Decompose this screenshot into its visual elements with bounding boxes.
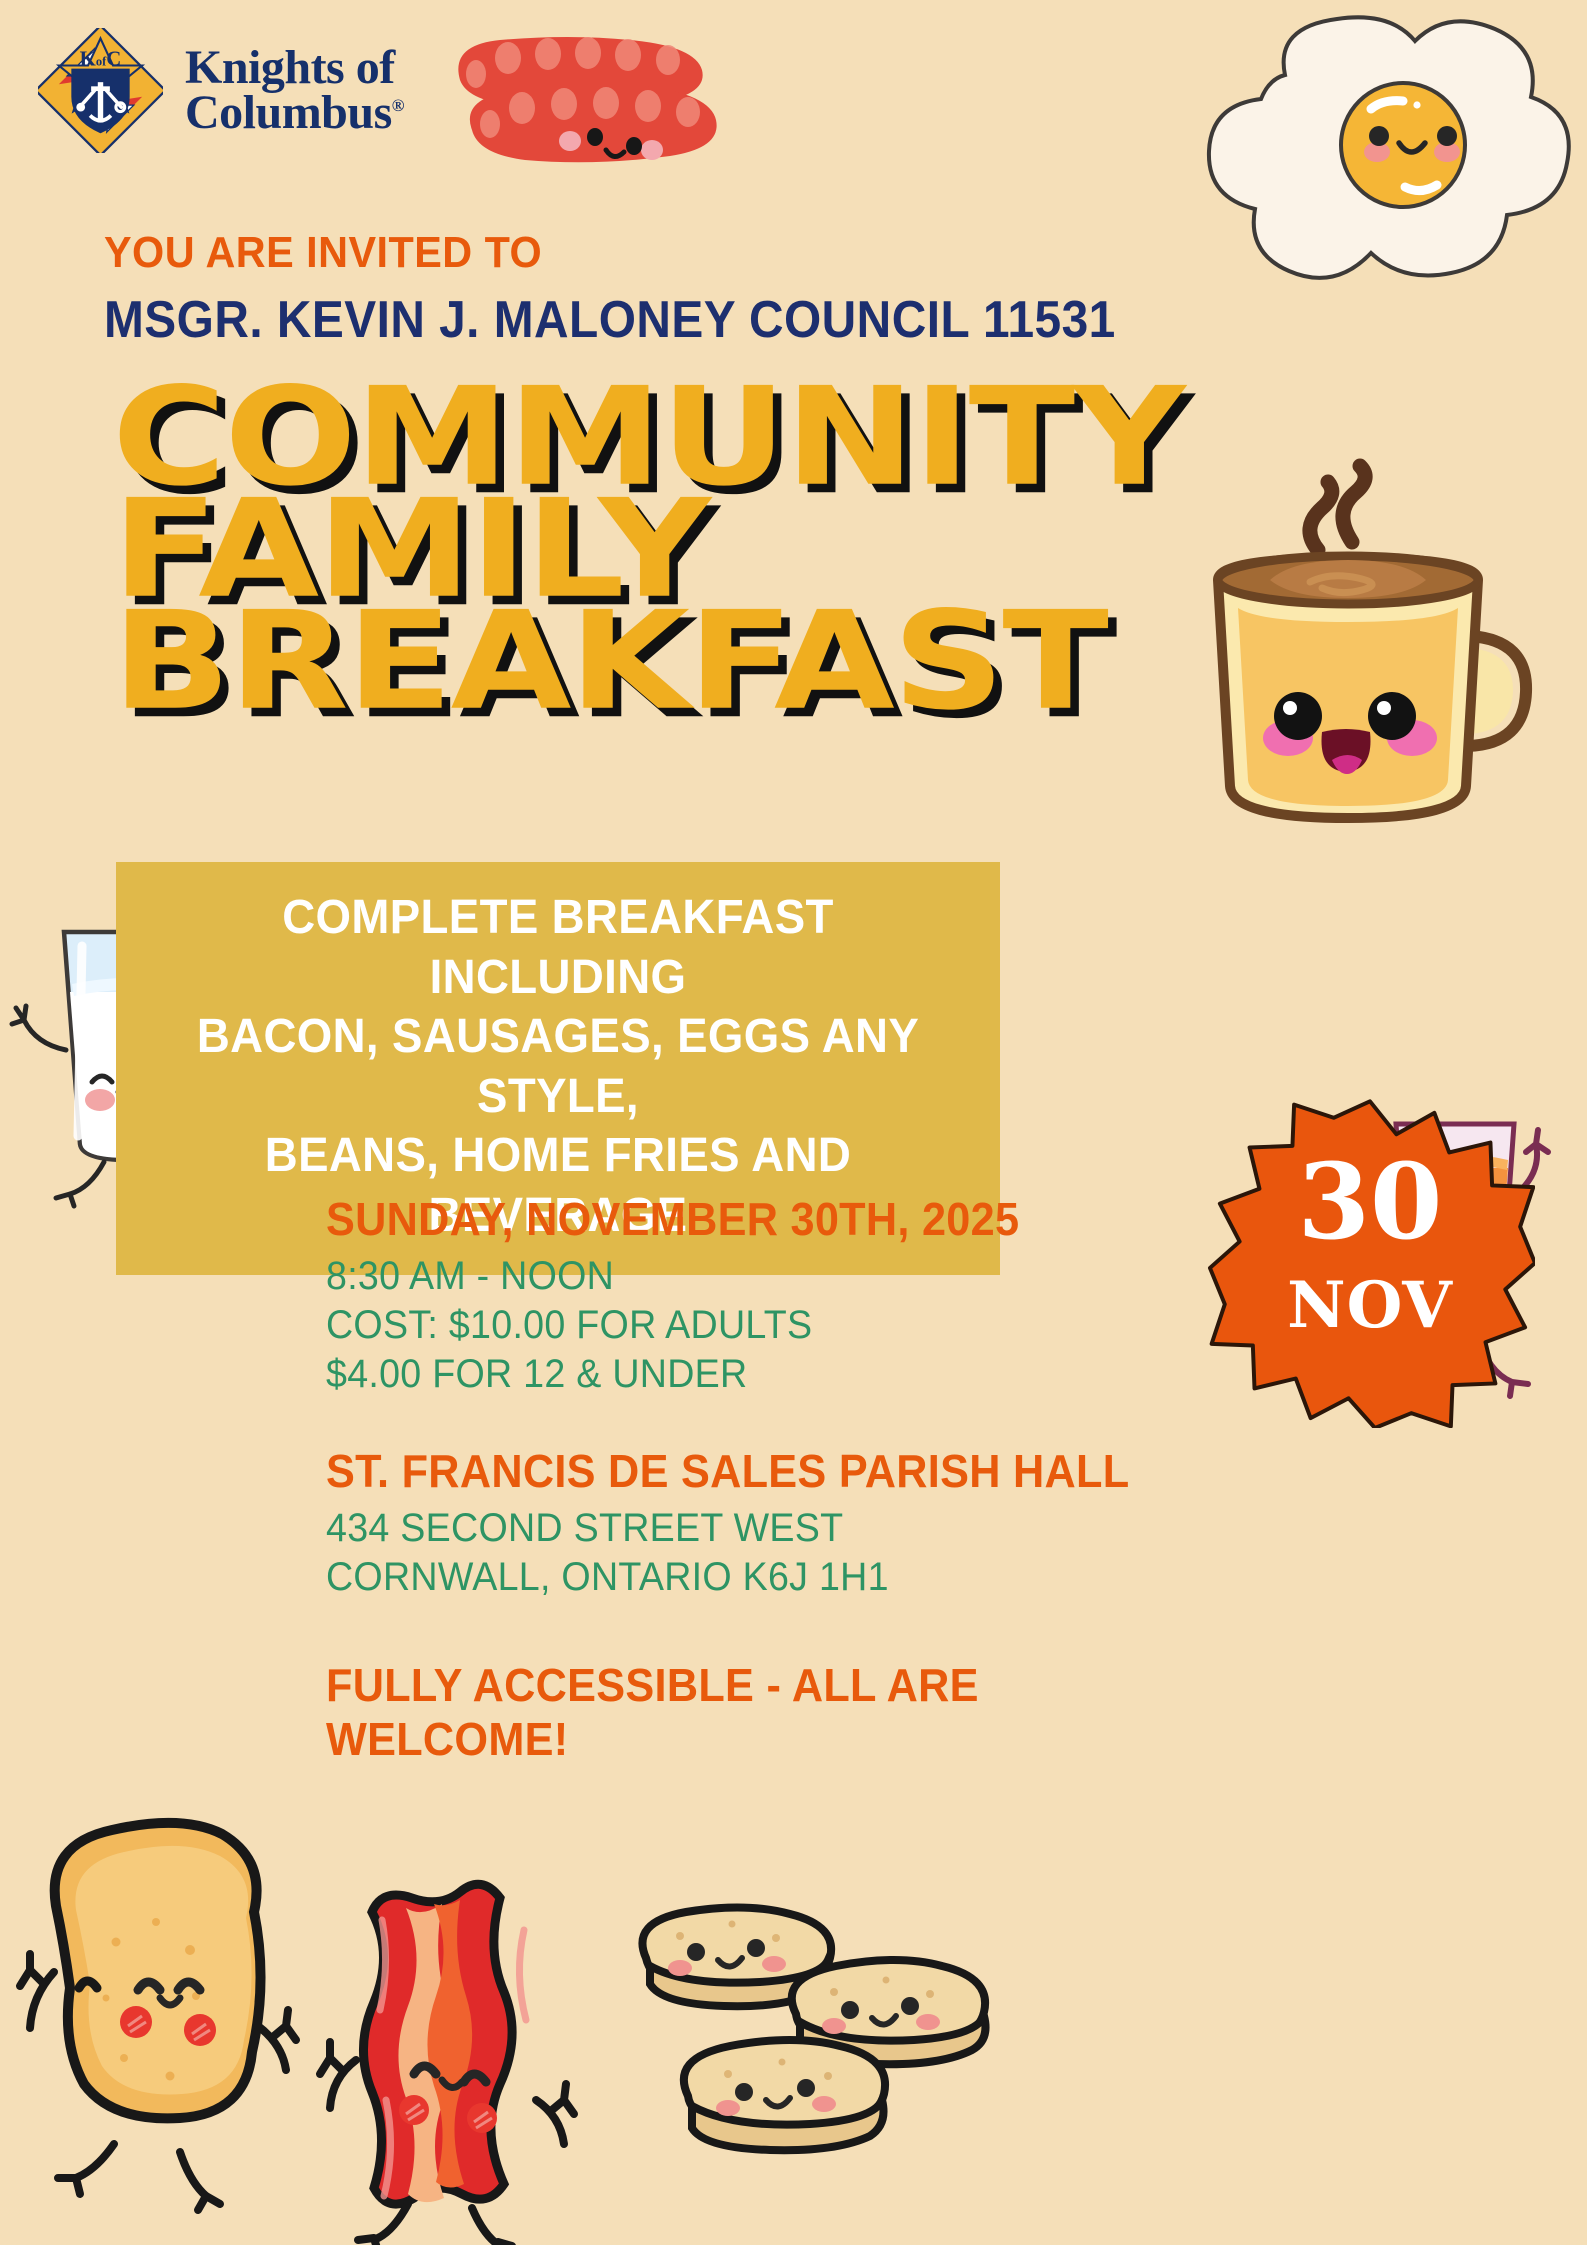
date-badge: 30 NOV bbox=[1205, 1098, 1535, 1428]
bacon-character-illustration bbox=[310, 1860, 590, 2245]
date-heading: SUNDAY, NOVEMBER 30TH, 2025 bbox=[326, 1192, 1134, 1246]
knights-of-columbus-wordmark: Knights of Columbus® bbox=[185, 46, 404, 134]
address-line-2: CORNWALL, ONTARIO K6J 1H1 bbox=[326, 1553, 1134, 1602]
council-label: MSGR. KEVIN J. MALONEY COUNCIL 11531 bbox=[104, 290, 1116, 350]
cost-adults: COST: $10.00 FOR ADULTS bbox=[326, 1301, 1134, 1350]
page-title: COMMUNITY FAMILY BREAKFAST bbox=[112, 382, 990, 713]
address-line-1: 434 SECOND STREET WEST bbox=[326, 1504, 1134, 1553]
breakfast-event-poster: KofC Knights of Columbus® bbox=[0, 0, 1587, 2245]
knights-of-columbus-logo: KofC Knights of Columbus® bbox=[38, 28, 404, 153]
toast-character-illustration bbox=[10, 1790, 340, 2240]
fried-egg-character-illustration bbox=[1165, 5, 1585, 295]
sausages-character-illustration bbox=[430, 10, 730, 180]
title-line-3: BREAKFAST bbox=[112, 606, 1183, 719]
badge-month: NOV bbox=[1205, 1274, 1535, 1338]
badge-day: 30 bbox=[1205, 1150, 1535, 1254]
logo-line-2: Columbus® bbox=[185, 91, 404, 135]
menu-line-2: BACON, SAUSAGES, EGGS ANY STYLE, bbox=[157, 1007, 959, 1126]
event-time: 8:30 AM - NOON bbox=[326, 1252, 1134, 1301]
accessibility-note: FULLY ACCESSIBLE - ALL ARE WELCOME! bbox=[326, 1658, 1134, 1766]
knights-of-columbus-emblem-icon: KofC bbox=[38, 28, 163, 153]
coffee-cup-character-illustration bbox=[1180, 450, 1580, 850]
details-spacer bbox=[326, 1398, 1186, 1444]
cost-children: $4.00 FOR 12 & UNDER bbox=[326, 1350, 1134, 1399]
registered-mark-icon: ® bbox=[392, 96, 404, 115]
logo-line-1: Knights of bbox=[185, 46, 404, 90]
home-fries-character-illustration bbox=[610, 1880, 1010, 2210]
invite-label: YOU ARE INVITED TO bbox=[104, 228, 542, 278]
venue-heading: ST. FRANCIS DE SALES PARISH HALL bbox=[326, 1444, 1134, 1498]
menu-line-1: COMPLETE BREAKFAST INCLUDING bbox=[157, 888, 959, 1007]
event-details: SUNDAY, NOVEMBER 30TH, 2025 8:30 AM - NO… bbox=[326, 1192, 1186, 1766]
